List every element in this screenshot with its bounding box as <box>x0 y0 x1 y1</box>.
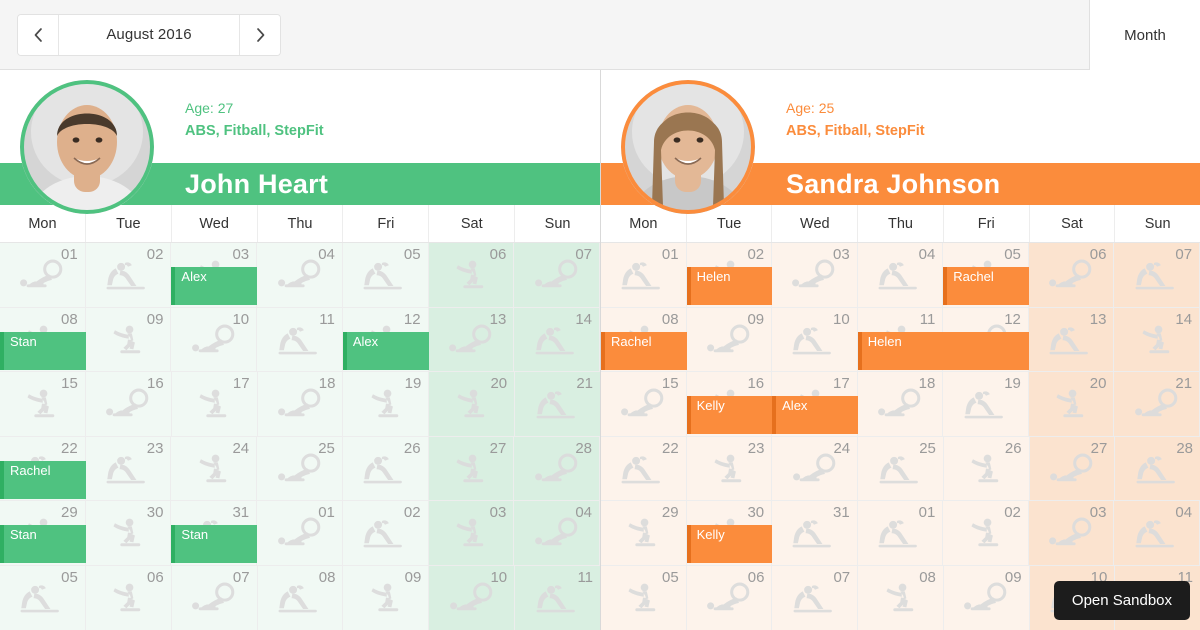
chevron-left-icon <box>32 26 45 44</box>
day-cell[interactable]: 19 <box>343 372 429 437</box>
week-row: 01020304050607Alex <box>0 243 600 308</box>
abs-icon <box>277 321 323 361</box>
view-switcher: Month <box>1089 0 1200 70</box>
fitball-icon <box>963 579 1009 619</box>
week-row: 15161718192021 <box>0 372 600 437</box>
tab-month[interactable]: Month <box>1089 0 1200 70</box>
day-number: 06 <box>748 569 765 586</box>
abs-icon <box>535 385 581 425</box>
day-number: 07 <box>233 569 250 586</box>
day-cell[interactable]: 26 <box>343 437 429 502</box>
abs-icon <box>362 514 408 554</box>
stepfit-icon <box>105 514 151 554</box>
stepfit-icon <box>363 579 409 619</box>
abs-icon <box>1134 514 1180 554</box>
weekday-header-sun: Sun <box>515 205 600 242</box>
day-cell[interactable]: 08 <box>858 566 944 630</box>
day-cell[interactable]: 01 <box>0 243 86 308</box>
day-cell[interactable]: 05 <box>601 566 687 630</box>
fitball-icon <box>877 385 923 425</box>
abs-icon <box>362 256 408 296</box>
resource-panels: Age: 27ABS, Fitball, StepFitJohn HeartMo… <box>0 70 1200 630</box>
stepfit-icon <box>449 385 495 425</box>
day-number: 19 <box>405 375 422 392</box>
day-cell[interactable]: 18 <box>858 372 944 437</box>
fitball-icon <box>1048 514 1094 554</box>
day-number: 26 <box>1005 440 1022 457</box>
abs-icon <box>535 579 581 619</box>
week-row: 08091011121314RachelHelen <box>601 308 1200 373</box>
day-number: 04 <box>919 246 936 263</box>
day-cell[interactable]: 06 <box>687 566 773 630</box>
day-number: 06 <box>1090 246 1107 263</box>
weekday-header-wed: Wed <box>172 205 258 242</box>
day-cell[interactable]: 26 <box>944 437 1030 502</box>
prev-period-button[interactable] <box>18 15 58 55</box>
day-number: 02 <box>747 246 764 263</box>
day-cell[interactable]: 01 <box>601 243 687 308</box>
abs-icon <box>1048 321 1094 361</box>
day-number: 06 <box>147 569 164 586</box>
abs-icon <box>877 514 923 554</box>
day-number: 12 <box>1004 311 1021 328</box>
day-cell[interactable]: 30 <box>86 501 172 566</box>
person-classes: ABS, Fitball, StepFit <box>786 120 925 142</box>
day-number: 22 <box>662 440 679 457</box>
day-number: 11 <box>920 311 936 328</box>
day-cell[interactable]: 07 <box>514 243 600 308</box>
day-number: 08 <box>662 311 679 328</box>
scheduler-toolbar: August 2016 Month <box>0 0 1200 70</box>
day-number: 18 <box>319 375 336 392</box>
day-cell[interactable]: 04 <box>1114 501 1200 566</box>
day-number: 02 <box>147 246 164 263</box>
abs-icon <box>877 256 923 296</box>
day-cell[interactable]: 10 <box>772 308 858 373</box>
stepfit-icon <box>963 514 1009 554</box>
day-number: 31 <box>232 504 249 521</box>
weekday-header-fri: Fri <box>944 205 1030 242</box>
month-grid: 01020304050607HelenRachel08091011121314R… <box>601 243 1200 630</box>
day-number: 06 <box>490 246 507 263</box>
day-number: 03 <box>490 504 507 521</box>
day-cell[interactable]: 04 <box>514 501 600 566</box>
stepfit-icon <box>620 514 666 554</box>
appointment-chip[interactable]: Stan <box>0 332 86 370</box>
stepfit-icon <box>105 321 151 361</box>
day-cell[interactable]: 28 <box>1115 437 1200 502</box>
week-row: 05060708091011 <box>0 566 600 630</box>
person-age: Age: 25 <box>786 98 925 120</box>
abs-icon <box>19 579 65 619</box>
fitball-icon <box>449 579 495 619</box>
fitball-icon <box>1134 385 1180 425</box>
chevron-right-icon <box>254 26 267 44</box>
day-number: 08 <box>61 311 78 328</box>
day-cell[interactable]: 03 <box>429 501 515 566</box>
day-number: 29 <box>662 504 679 521</box>
day-cell[interactable]: 11 <box>257 308 343 373</box>
avatar <box>621 80 755 214</box>
day-number: 20 <box>1090 375 1107 392</box>
day-number: 28 <box>575 440 592 457</box>
weekday-header-thu: Thu <box>858 205 944 242</box>
avatar <box>20 80 154 214</box>
fitball-icon <box>620 385 666 425</box>
day-number: 24 <box>232 440 249 457</box>
stepfit-icon <box>105 579 151 619</box>
day-number: 15 <box>662 375 679 392</box>
weekday-header-fri: Fri <box>343 205 429 242</box>
abs-icon <box>620 450 666 490</box>
stepfit-icon <box>191 385 237 425</box>
day-number: 16 <box>147 375 164 392</box>
current-period-label[interactable]: August 2016 <box>58 15 240 55</box>
stepfit-icon <box>363 385 409 425</box>
stepfit-icon <box>963 450 1009 490</box>
abs-icon <box>534 321 580 361</box>
weekday-header-sat: Sat <box>429 205 515 242</box>
day-cell[interactable]: 14 <box>514 308 600 373</box>
day-cell[interactable]: 31 <box>772 501 858 566</box>
day-cell[interactable]: 24 <box>772 437 858 502</box>
day-cell[interactable]: 27 <box>1030 437 1116 502</box>
day-cell[interactable]: 19 <box>943 372 1029 437</box>
day-number: 19 <box>1004 375 1021 392</box>
abs-icon <box>791 321 837 361</box>
day-number: 11 <box>319 311 335 328</box>
appointment-chip[interactable]: Rachel <box>943 267 1029 305</box>
day-number: 01 <box>919 504 936 521</box>
week-row: 22232425262728 <box>601 437 1200 502</box>
day-number: 23 <box>748 440 765 457</box>
day-cell[interactable]: 18 <box>258 372 344 437</box>
day-cell[interactable]: 13 <box>429 308 515 373</box>
day-cell[interactable]: 06 <box>1029 243 1115 308</box>
day-number: 27 <box>1091 440 1108 457</box>
day-number: 14 <box>575 311 592 328</box>
fitball-icon <box>19 256 65 296</box>
appointment-chip[interactable]: Alex <box>343 332 429 370</box>
abs-icon <box>1135 450 1181 490</box>
day-number: 01 <box>318 504 335 521</box>
fitball-icon <box>706 321 752 361</box>
day-number: 03 <box>232 246 249 263</box>
abs-icon <box>791 514 837 554</box>
fitball-icon <box>277 514 323 554</box>
appointment-chip[interactable]: Kelly <box>687 525 773 563</box>
day-cell[interactable]: 21 <box>1114 372 1200 437</box>
fitball-icon <box>534 450 580 490</box>
abs-icon <box>1134 256 1180 296</box>
day-number: 02 <box>1004 504 1021 521</box>
day-cell[interactable]: 02 <box>943 501 1029 566</box>
appointment-chip[interactable]: Rachel <box>601 332 687 370</box>
abs-icon <box>792 579 838 619</box>
day-cell[interactable]: 25 <box>257 437 343 502</box>
appointment-chip[interactable]: Helen <box>858 332 1029 370</box>
day-cell[interactable]: 01 <box>257 501 343 566</box>
fitball-icon <box>534 514 580 554</box>
fitball-icon <box>792 450 838 490</box>
fitball-icon <box>105 385 151 425</box>
day-number: 15 <box>61 375 78 392</box>
day-number: 28 <box>1176 440 1193 457</box>
fitball-icon <box>791 256 837 296</box>
weekday-header-sat: Sat <box>1030 205 1116 242</box>
day-number: 05 <box>662 569 679 586</box>
stepfit-icon <box>706 450 752 490</box>
day-cell[interactable]: 09 <box>343 566 429 630</box>
day-number: 23 <box>147 440 164 457</box>
month-grid: 01020304050607Alex08091011121314StanAlex… <box>0 243 600 630</box>
day-number: 30 <box>747 504 764 521</box>
scheduler-app: August 2016 Month Age: 27ABS, Fitball, S… <box>0 0 1200 630</box>
day-number: 10 <box>232 311 249 328</box>
day-cell[interactable]: 09 <box>687 308 773 373</box>
day-number: 17 <box>833 375 850 392</box>
person-header: Age: 25ABS, Fitball, StepFitSandra Johns… <box>601 70 1200 205</box>
day-cell[interactable]: 20 <box>1029 372 1115 437</box>
day-cell[interactable]: 28 <box>514 437 600 502</box>
stepfit-icon <box>878 579 924 619</box>
week-row: 15161718192021KellyAlex <box>601 372 1200 437</box>
fitball-icon <box>534 256 580 296</box>
appointment-chip[interactable]: Stan <box>0 525 86 563</box>
day-cell[interactable]: 15 <box>601 372 687 437</box>
person-meta: Age: 27ABS, Fitball, StepFit <box>185 98 324 142</box>
day-cell[interactable]: 16 <box>86 372 172 437</box>
fitball-icon <box>1049 450 1095 490</box>
day-number: 26 <box>404 440 421 457</box>
day-number: 02 <box>404 504 421 521</box>
day-number: 17 <box>233 375 250 392</box>
day-cell[interactable]: 17 <box>172 372 258 437</box>
day-number: 27 <box>490 440 507 457</box>
weekday-header-thu: Thu <box>258 205 344 242</box>
stepfit-icon <box>191 450 237 490</box>
fitball-icon <box>706 579 752 619</box>
day-cell[interactable]: 01 <box>858 501 944 566</box>
stepfit-icon <box>448 256 494 296</box>
next-period-button[interactable] <box>240 15 280 55</box>
day-number: 08 <box>319 569 336 586</box>
abs-icon <box>105 256 151 296</box>
abs-icon <box>878 450 924 490</box>
day-cell[interactable]: 25 <box>858 437 944 502</box>
day-number: 03 <box>1090 504 1107 521</box>
person-age: Age: 27 <box>185 98 324 120</box>
stepfit-icon <box>448 514 494 554</box>
day-number: 24 <box>833 440 850 457</box>
day-number: 22 <box>61 440 78 457</box>
day-number: 05 <box>404 246 421 263</box>
appointment-chip[interactable]: Alex <box>772 396 858 434</box>
day-number: 25 <box>919 440 936 457</box>
day-number: 09 <box>1005 569 1022 586</box>
open-sandbox-button[interactable]: Open Sandbox <box>1054 581 1190 620</box>
day-number: 13 <box>1090 311 1107 328</box>
day-number: 04 <box>318 246 335 263</box>
week-row: 29303101020304StanStan <box>0 501 600 566</box>
day-number: 05 <box>61 569 78 586</box>
day-number: 16 <box>747 375 764 392</box>
day-cell[interactable]: 02 <box>343 501 429 566</box>
day-cell[interactable]: 27 <box>429 437 515 502</box>
day-number: 10 <box>490 569 507 586</box>
day-cell[interactable]: 29 <box>601 501 687 566</box>
date-navigator: August 2016 <box>18 15 280 55</box>
appointment-chip[interactable]: Stan <box>171 525 257 563</box>
fitball-icon <box>191 579 237 619</box>
day-cell[interactable]: 21 <box>515 372 600 437</box>
appointment-chip[interactable]: Rachel <box>0 461 86 499</box>
appointment-chip[interactable]: Alex <box>171 267 257 305</box>
day-cell[interactable]: 23 <box>687 437 773 502</box>
day-cell[interactable]: 23 <box>86 437 172 502</box>
fitball-icon <box>448 321 494 361</box>
stepfit-icon <box>1048 385 1094 425</box>
fitball-icon <box>277 256 323 296</box>
abs-icon <box>620 256 666 296</box>
day-cell[interactable]: 10 <box>171 308 257 373</box>
person-header: Age: 27ABS, Fitball, StepFitJohn Heart <box>0 70 600 205</box>
day-number: 09 <box>147 311 164 328</box>
day-number: 21 <box>1175 375 1192 392</box>
day-cell[interactable]: 07 <box>772 566 858 630</box>
resource-panel-green: Age: 27ABS, Fitball, StepFitJohn HeartMo… <box>0 70 600 630</box>
weekday-header-sun: Sun <box>1115 205 1200 242</box>
day-cell[interactable]: 14 <box>1114 308 1200 373</box>
week-row: 08091011121314StanAlex <box>0 308 600 373</box>
stepfit-icon <box>448 450 494 490</box>
day-number: 04 <box>575 504 592 521</box>
day-number: 21 <box>576 375 593 392</box>
day-cell[interactable]: 11 <box>515 566 600 630</box>
day-number: 25 <box>318 440 335 457</box>
fitball-icon <box>277 385 323 425</box>
day-number: 01 <box>61 246 78 263</box>
day-number: 07 <box>1175 246 1192 263</box>
day-cell[interactable]: 02 <box>86 243 172 308</box>
day-cell[interactable]: 10 <box>429 566 515 630</box>
resource-panel-orange: Age: 25ABS, Fitball, StepFitSandra Johns… <box>600 70 1200 630</box>
weekday-header-wed: Wed <box>772 205 858 242</box>
person-name: Sandra Johnson <box>786 169 1000 200</box>
day-cell[interactable]: 08 <box>258 566 344 630</box>
day-cell[interactable]: 13 <box>1029 308 1115 373</box>
stepfit-icon <box>620 579 666 619</box>
day-number: 05 <box>1004 246 1021 263</box>
day-number: 18 <box>919 375 936 392</box>
day-cell[interactable]: 06 <box>86 566 172 630</box>
fitball-icon <box>277 450 323 490</box>
day-cell[interactable]: 24 <box>171 437 257 502</box>
day-cell[interactable]: 03 <box>772 243 858 308</box>
day-number: 07 <box>833 569 850 586</box>
day-cell[interactable]: 05 <box>343 243 429 308</box>
week-row: 29303101020304Kelly <box>601 501 1200 566</box>
day-cell[interactable]: 04 <box>257 243 343 308</box>
day-cell[interactable]: 09 <box>86 308 172 373</box>
day-number: 03 <box>833 246 850 263</box>
day-cell[interactable]: 06 <box>429 243 515 308</box>
day-number: 14 <box>1175 311 1192 328</box>
day-cell[interactable]: 03 <box>1029 501 1115 566</box>
day-number: 29 <box>61 504 78 521</box>
abs-icon <box>963 385 1009 425</box>
day-number: 31 <box>833 504 850 521</box>
abs-icon <box>362 450 408 490</box>
stepfit-icon <box>1134 321 1180 361</box>
day-number: 20 <box>490 375 507 392</box>
appointment-chip[interactable]: Kelly <box>687 396 773 434</box>
day-cell[interactable]: 07 <box>1114 243 1200 308</box>
appointment-chip[interactable]: Helen <box>687 267 773 305</box>
person-meta: Age: 25ABS, Fitball, StepFit <box>786 98 925 142</box>
abs-icon <box>277 579 323 619</box>
stepfit-icon <box>19 385 65 425</box>
person-classes: ABS, Fitball, StepFit <box>185 120 324 142</box>
week-row: 01020304050607HelenRachel <box>601 243 1200 308</box>
day-cell[interactable]: 20 <box>429 372 515 437</box>
day-cell[interactable]: 22 <box>601 437 687 502</box>
abs-icon <box>105 450 151 490</box>
day-number: 08 <box>919 569 936 586</box>
day-cell[interactable]: 05 <box>0 566 86 630</box>
day-number: 30 <box>147 504 164 521</box>
day-cell[interactable]: 04 <box>858 243 944 308</box>
day-cell[interactable]: 07 <box>172 566 258 630</box>
fitball-icon <box>191 321 237 361</box>
day-cell[interactable]: 09 <box>944 566 1030 630</box>
day-number: 04 <box>1175 504 1192 521</box>
person-name: John Heart <box>185 169 328 200</box>
day-number: 01 <box>662 246 679 263</box>
day-number: 09 <box>405 569 422 586</box>
day-number: 10 <box>833 311 850 328</box>
week-row: 22232425262728Rachel <box>0 437 600 502</box>
fitball-icon <box>1048 256 1094 296</box>
day-cell[interactable]: 15 <box>0 372 86 437</box>
day-number: 09 <box>747 311 764 328</box>
day-number: 11 <box>577 569 593 586</box>
day-number: 07 <box>575 246 592 263</box>
day-number: 12 <box>404 311 421 328</box>
day-number: 13 <box>490 311 507 328</box>
